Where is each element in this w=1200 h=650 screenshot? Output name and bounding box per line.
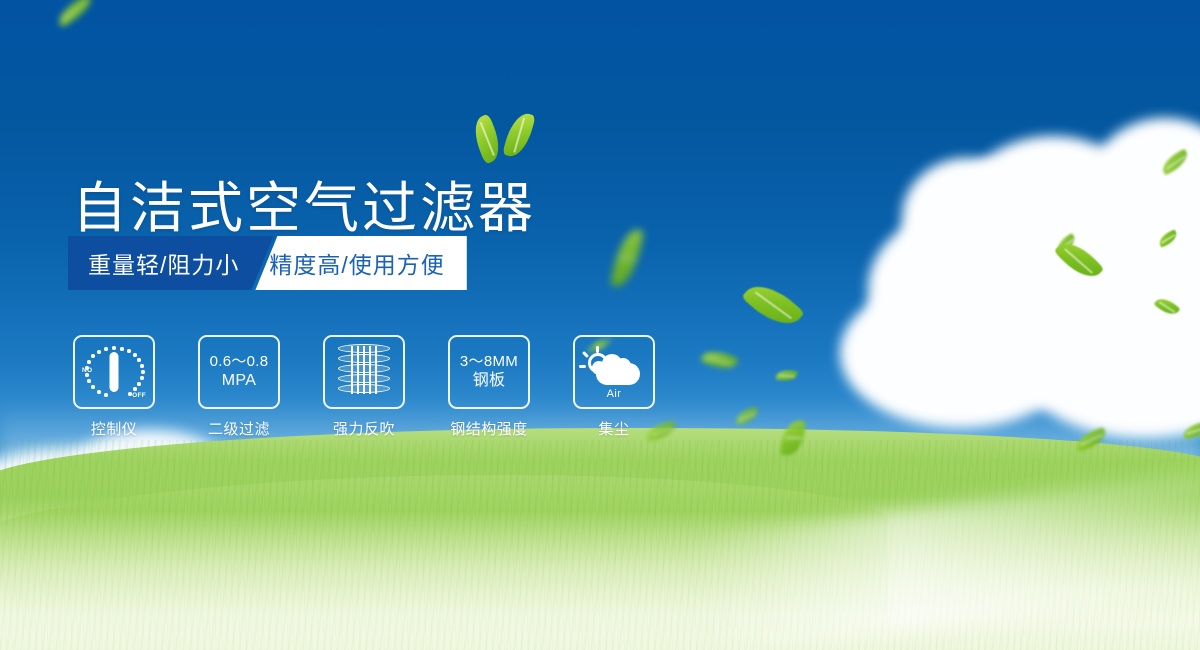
feature-label: 钢结构强度: [450, 418, 528, 439]
pressure-unit: MPA: [210, 372, 269, 390]
feature-label: 强力反吹: [333, 418, 395, 439]
dial-off-label: OFF: [132, 392, 146, 399]
pressure-text-icon: 0.6～0.8 MPA: [210, 353, 269, 391]
feature-item-dust[interactable]: Air 集尘: [572, 335, 656, 439]
steel-plate-text-icon: 3～8MM 钢板: [460, 353, 518, 391]
sky-background: [0, 0, 1200, 650]
dial-on-label: NO: [82, 367, 92, 374]
product-banner: 自洁式空气过滤器 重量轻/阻力小 精度高/使用方便: [0, 0, 1200, 650]
tag-bar: 重量轻/阻力小 精度高/使用方便: [68, 236, 467, 290]
control-dial-icon: NO OFF: [83, 343, 145, 401]
pressure-value: 0.6～0.8: [210, 353, 269, 370]
feature-label: 二级过滤: [208, 418, 270, 439]
tag-secondary: 精度高/使用方便: [255, 236, 466, 290]
page-title: 自洁式空气过滤器: [72, 180, 536, 238]
feature-icon-box: Air: [573, 335, 655, 409]
feature-icon-box: 0.6～0.8 MPA: [198, 335, 280, 409]
tag-primary: 重量轻/阻力小: [68, 236, 273, 290]
feature-icon-box: [323, 335, 405, 409]
feature-list: NO OFF 控制仪 0.6～0.8 MPA 二级过滤: [72, 335, 656, 439]
feature-label: 控制仪: [91, 418, 138, 439]
feature-label: 集尘: [598, 418, 629, 439]
steel-material: 钢板: [460, 372, 518, 390]
sprout-leaves-icon: [470, 108, 550, 168]
filter-stack-icon: [338, 344, 390, 400]
feature-icon-box: 3～8MM 钢板: [448, 335, 530, 409]
air-label: Air: [584, 388, 644, 400]
feature-icon-box: NO OFF: [73, 335, 155, 409]
steel-thickness: 3～8MM: [460, 353, 518, 370]
feature-item-blowback[interactable]: 强力反吹: [322, 335, 406, 439]
feature-item-steel[interactable]: 3～8MM 钢板 钢结构强度: [447, 335, 531, 439]
feature-item-pressure[interactable]: 0.6～0.8 MPA 二级过滤: [197, 335, 281, 439]
feature-item-control[interactable]: NO OFF 控制仪: [72, 335, 156, 439]
cloud-sun-air-icon: Air: [584, 347, 644, 397]
